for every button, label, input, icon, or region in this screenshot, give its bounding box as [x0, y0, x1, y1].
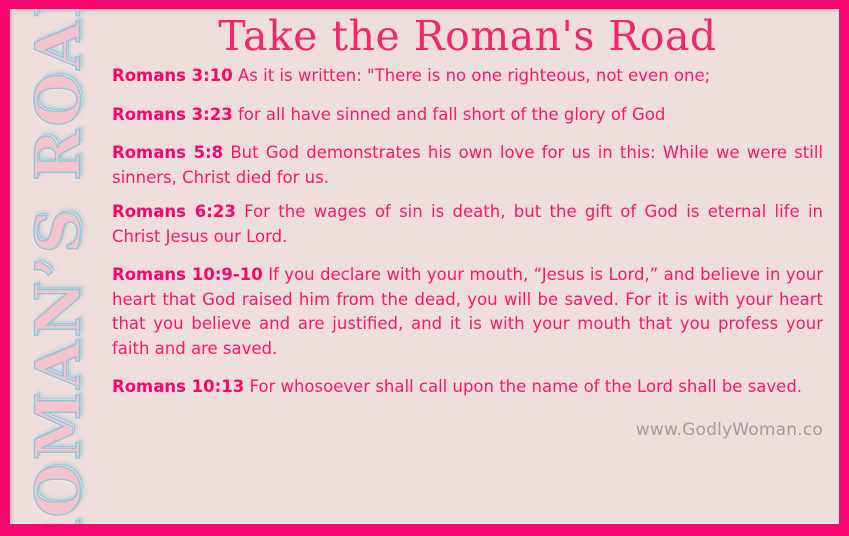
verse-list: Romans 3:10 As it is written: "There is …	[110, 64, 825, 400]
verse-block: Romans 5:8 But God demonstrates his own …	[110, 141, 825, 190]
sidebar-vertical-banner: ROMAN’S ROAD	[10, 9, 106, 524]
verse-reference: Romans 5:8	[112, 143, 223, 162]
watermark-url: www.GodlyWoman.co	[636, 420, 823, 440]
verse-block: Romans 3:23 for all have sinned and fall…	[110, 103, 825, 128]
verse-text: As it is written: "There is no one right…	[238, 66, 710, 85]
verse-block: Romans 10:13 For whosoever shall call up…	[110, 375, 825, 400]
verse-block: Romans 6:23 For the wages of sin is deat…	[110, 200, 825, 249]
verse-block: Romans 10:9-10 If you declare with your …	[110, 263, 825, 361]
verse-reference: Romans 10:13	[112, 377, 244, 396]
verse-reference: Romans 3:23	[112, 105, 233, 124]
verse-reference: Romans 10:9-10	[112, 265, 263, 284]
verse-block: Romans 3:10 As it is written: "There is …	[110, 64, 825, 89]
verse-text: For whosoever shall call upon the name o…	[249, 377, 802, 396]
sidebar-title-romans-road: ROMAN’S ROAD	[22, 9, 95, 524]
verse-text: for all have sinned and fall short of th…	[238, 105, 665, 124]
verse-reference: Romans 6:23	[112, 202, 236, 221]
verse-reference: Romans 3:10	[112, 66, 233, 85]
main-content: Take the Roman's Road Romans 3:10 As it …	[106, 9, 839, 524]
poster-frame: ROMAN’S ROAD Take the Roman's Road Roman…	[0, 0, 849, 536]
poster-inner-panel: ROMAN’S ROAD Take the Roman's Road Roman…	[10, 9, 839, 524]
page-title: Take the Roman's Road	[110, 9, 825, 61]
